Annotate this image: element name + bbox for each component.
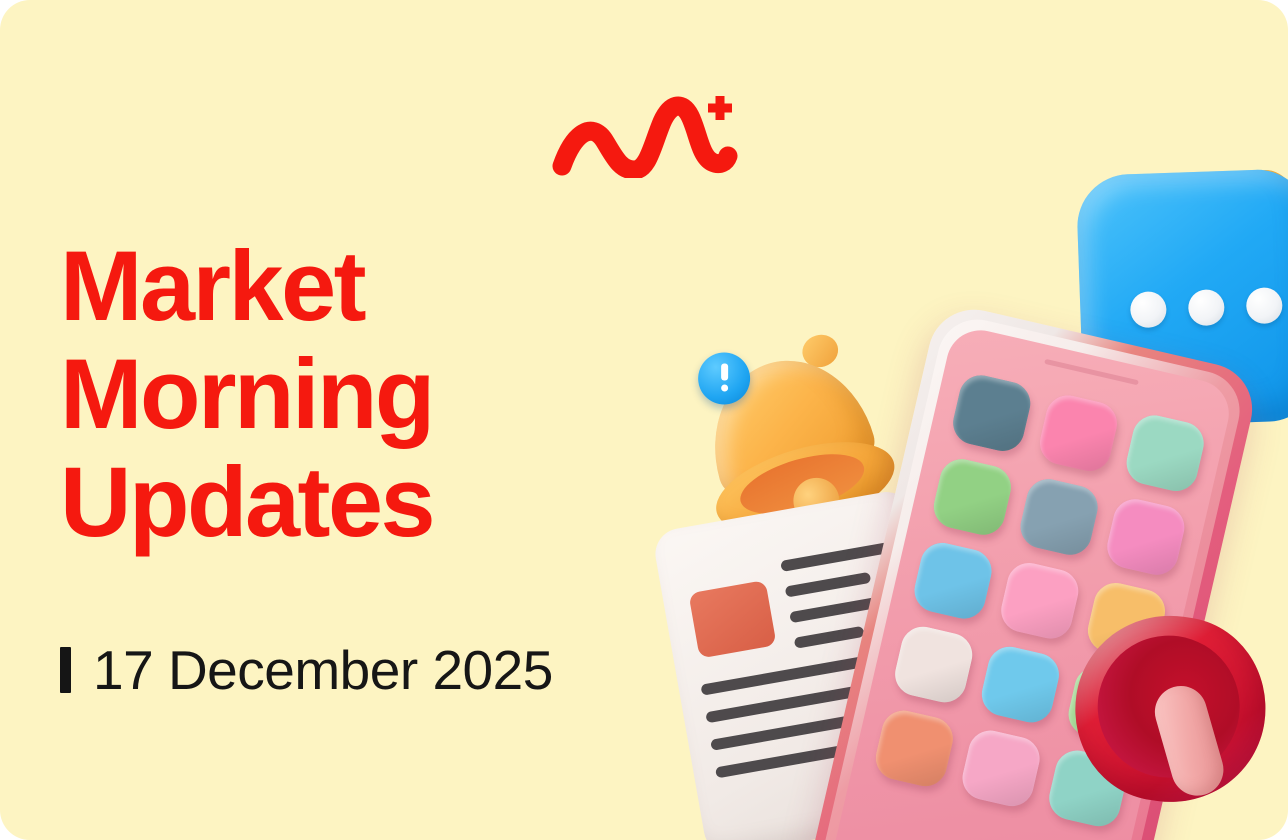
typing-dots — [1130, 287, 1283, 328]
document-text-line — [785, 572, 872, 598]
market-morning-updates-banner: Market Morning Updates 17 December 2025 — [0, 0, 1288, 840]
app-icon-hotpink — [1035, 391, 1121, 475]
typing-dot-3 — [1246, 287, 1283, 324]
typing-dot-1 — [1130, 291, 1167, 328]
app-icon-blue — [910, 539, 996, 623]
app-icon-sky — [977, 642, 1063, 726]
app-icon-blush — [958, 726, 1044, 810]
document-text-line — [794, 626, 865, 649]
typing-dot-2 — [1188, 289, 1225, 326]
alert-badge-icon — [698, 353, 750, 405]
app-icon-pink — [1103, 495, 1189, 579]
headline-line-2: Morning — [60, 340, 700, 448]
app-icon-mint — [1122, 411, 1208, 495]
app-icon-slate — [949, 371, 1035, 455]
app-icon-coral — [871, 706, 957, 790]
headline-line-3: Updates — [60, 448, 700, 556]
date-row: 17 December 2025 — [60, 642, 553, 698]
phone-speaker-notch — [1044, 359, 1139, 385]
page-title: Market Morning Updates — [60, 232, 700, 556]
app-icon-cream — [891, 622, 977, 706]
megaphone-icon — [1054, 585, 1288, 840]
app-icon-rose — [997, 559, 1083, 643]
app-icon-grayblue — [1016, 475, 1102, 559]
date-accent-bar — [60, 647, 71, 693]
headline-line-1: Market — [60, 232, 700, 340]
app-icon-green — [929, 455, 1015, 539]
document-thumbnail — [688, 580, 776, 659]
illustration-cluster — [660, 0, 1288, 840]
date-text: 17 December 2025 — [93, 642, 553, 698]
